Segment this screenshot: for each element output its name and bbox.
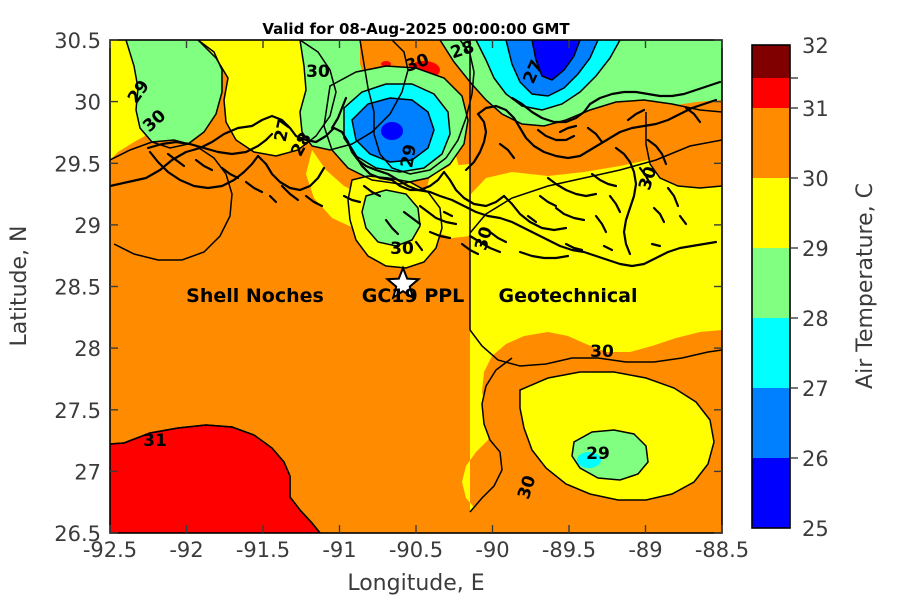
- y-tick-label: 30.5: [54, 29, 101, 53]
- y-tick-label: 28: [74, 337, 101, 361]
- y-tick-label: 29: [74, 214, 101, 238]
- x-tick-label: -92: [169, 538, 203, 562]
- contour-label: 29: [586, 444, 610, 464]
- x-tick-label: -91.5: [236, 538, 290, 562]
- colorbar-band-25-26: [752, 458, 790, 528]
- x-tick-label: -89.5: [542, 538, 596, 562]
- page-title: Valid for 08-Aug-2025 00:00:00 GMT: [262, 20, 570, 38]
- colorbar-band-28-29: [752, 248, 790, 318]
- y-tick-label: 30: [74, 91, 101, 115]
- station-label-shell-noches: Shell Noches: [186, 285, 324, 307]
- colorbar-tick-label: 26: [802, 447, 829, 471]
- colorbar-band-32-top: [752, 45, 790, 78]
- temperature-contour-figure: 29 30 30 27 28 28 30 27 30 29 30 30 30 2…: [0, 0, 900, 600]
- x-tick-label: -91: [322, 538, 356, 562]
- x-tick-label: -90.5: [389, 538, 443, 562]
- y-axis-title: Latitude, N: [7, 226, 32, 347]
- colorbar-tick-label: 27: [802, 377, 829, 401]
- colorbar-title: Air Temperature, C: [853, 183, 878, 389]
- colorbar-band-30-31: [752, 108, 790, 178]
- colorbar-tick-label: 31: [802, 97, 829, 121]
- colorbar-band-26-27: [752, 388, 790, 458]
- contour-label: 31: [143, 431, 167, 451]
- colorbar-tick-label: 32: [802, 34, 829, 58]
- station-label-geotechnical: Geotechnical: [499, 285, 638, 307]
- colorbar-tick-label: 28: [802, 307, 829, 331]
- x-tick-label: -89: [628, 538, 662, 562]
- colorbar-band-29-30: [752, 178, 790, 248]
- colorbar-tick-label: 29: [802, 237, 829, 261]
- y-tick-label: 27: [74, 460, 101, 484]
- contour-label: 30: [306, 62, 330, 82]
- colorbar-tick-label: 30: [802, 167, 829, 191]
- cold-core-minimum: [381, 122, 403, 140]
- y-tick-label: 29.5: [54, 152, 101, 176]
- contour-label: 30: [390, 239, 414, 259]
- contour-label: 30: [590, 342, 614, 362]
- x-axis-title: Longitude, E: [347, 571, 484, 596]
- colorbar-band-27-28: [752, 318, 790, 388]
- y-tick-label: 27.5: [54, 399, 101, 423]
- x-tick-label: -90: [475, 538, 509, 562]
- y-tick-label: 26.5: [54, 522, 101, 546]
- colorbar-band-31-32: [752, 78, 790, 108]
- figure-root: 29 30 30 27 28 28 30 27 30 29 30 30 30 2…: [0, 0, 900, 600]
- x-tick-label: -88.5: [695, 538, 749, 562]
- contour-label: 29: [397, 143, 421, 170]
- station-label-gc19-ppl: GC19 PPL: [362, 285, 465, 307]
- colorbar-tick-label: 25: [802, 517, 829, 541]
- y-tick-label: 28.5: [54, 276, 101, 300]
